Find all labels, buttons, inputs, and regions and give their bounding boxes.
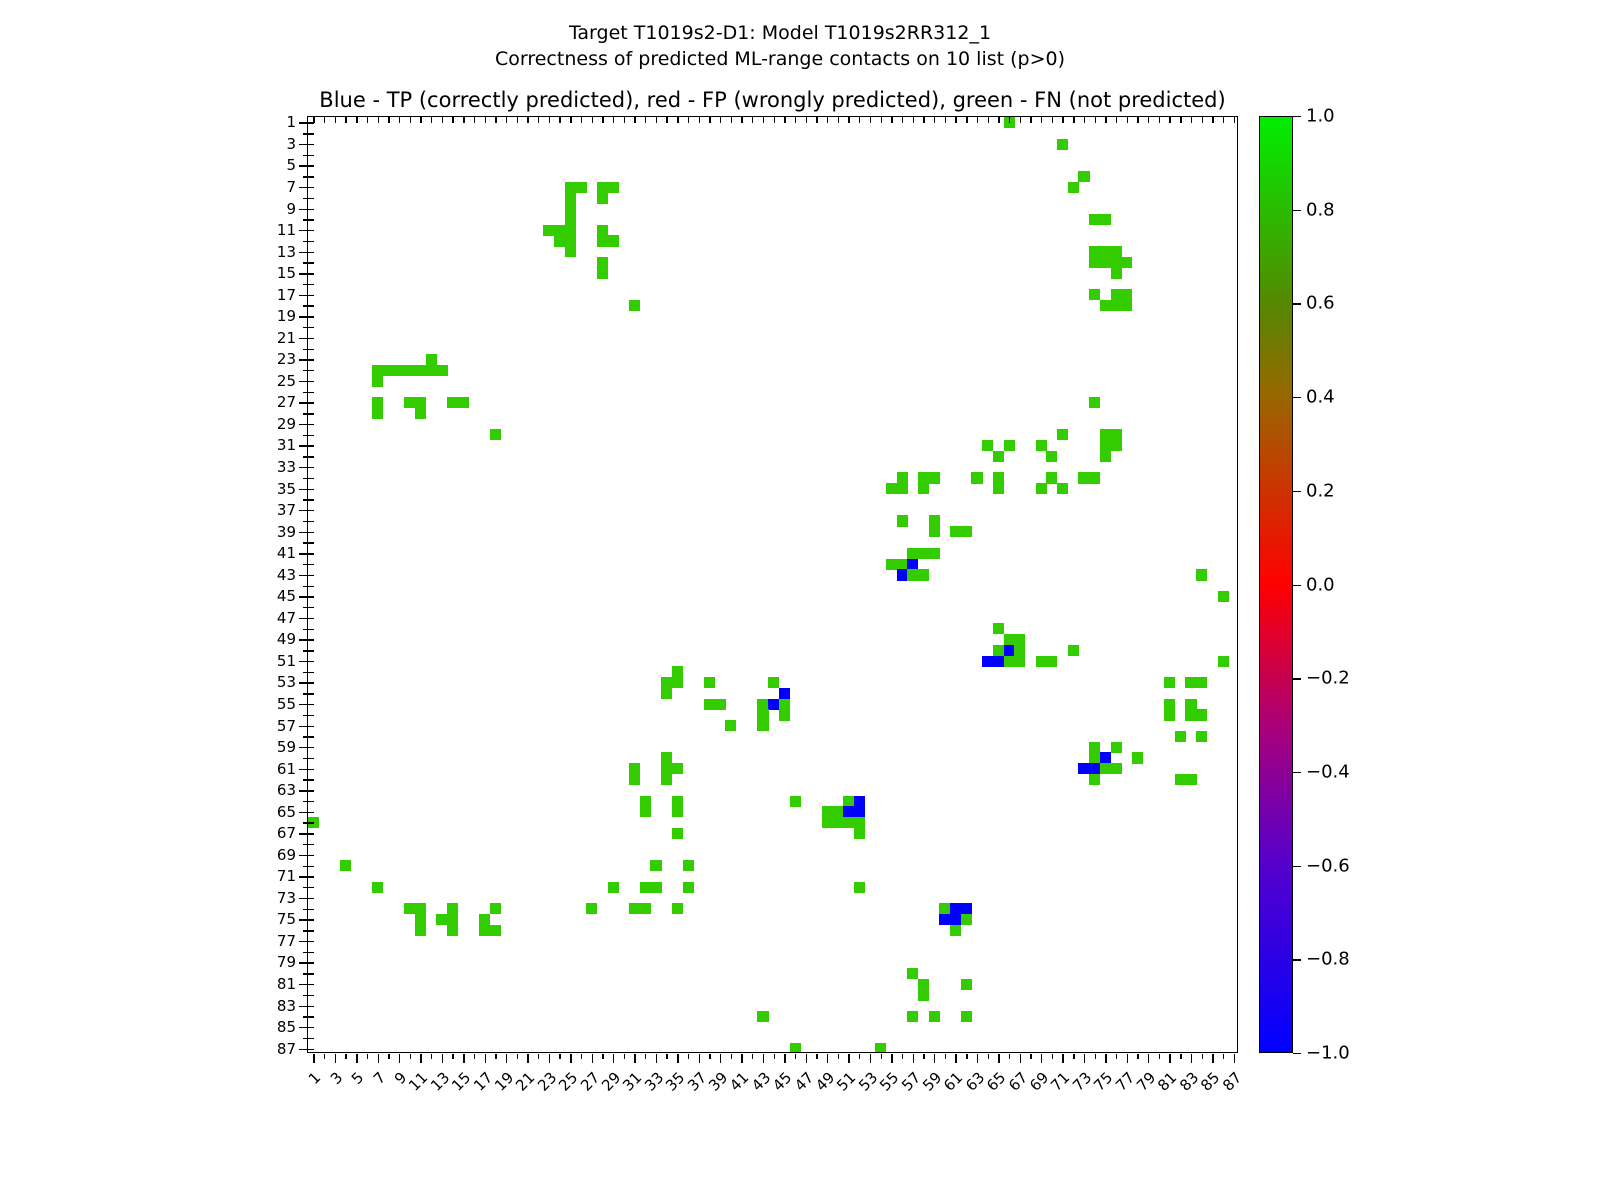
y-axis-tick-inner <box>308 876 314 877</box>
y-axis-tick-inner <box>308 715 314 716</box>
x-axis-tick <box>1095 1054 1096 1059</box>
contact-cell <box>672 796 683 807</box>
x-axis-tick-inner <box>1062 117 1063 123</box>
contact-cell <box>597 182 608 193</box>
y-axis-label: 19 <box>277 307 296 325</box>
contact-cell <box>918 548 929 559</box>
x-axis-tick <box>1223 1054 1224 1059</box>
contact-cell <box>907 569 918 580</box>
contact-cell <box>597 257 608 268</box>
x-axis-tick <box>1180 1054 1181 1059</box>
contact-cell <box>372 882 383 893</box>
figure-title-line-1: Target T1019s2-D1: Model T1019s2RR312_1 <box>0 20 1560 46</box>
contact-cell <box>929 515 940 526</box>
x-axis-tick <box>1041 1054 1042 1063</box>
contact-cell <box>1078 763 1089 774</box>
contact-cell <box>1111 246 1122 257</box>
contact-cell <box>404 903 415 914</box>
colorbar-tick-label: −1.0 <box>1306 1043 1350 1064</box>
colorbar-tick <box>1293 210 1301 211</box>
y-axis-tick <box>299 295 308 296</box>
contact-cell <box>1100 429 1111 440</box>
colorbar-tick <box>1293 116 1301 117</box>
contact-cell <box>1111 440 1122 451</box>
contact-cell <box>415 397 426 408</box>
contact-cell <box>479 914 490 925</box>
x-axis-tick <box>517 1054 518 1059</box>
y-axis-label: 23 <box>277 350 296 368</box>
x-axis-tick <box>859 1054 860 1059</box>
x-axis-tick-inner <box>452 117 453 123</box>
y-axis-label: 1 <box>286 113 296 131</box>
contact-cell <box>790 1043 801 1052</box>
x-axis-tick-inner <box>1052 117 1053 123</box>
y-axis-tick-inner <box>308 499 314 500</box>
contact-cell <box>661 677 672 688</box>
y-axis-tick-inner <box>308 1049 314 1050</box>
contact-cell <box>1218 656 1229 667</box>
x-axis-tick <box>774 1054 775 1059</box>
y-axis-tick-inner <box>308 467 314 468</box>
colorbar-tick-label: 0.2 <box>1306 480 1335 501</box>
x-axis-tick-inner <box>1148 117 1149 123</box>
contact-cell <box>1100 257 1111 268</box>
x-axis-tick <box>1062 1054 1063 1063</box>
x-axis-tick-inner <box>442 117 443 123</box>
contact-cell <box>993 656 1004 667</box>
x-axis-tick <box>602 1054 603 1059</box>
y-axis-tick <box>299 855 308 856</box>
y-axis-label: 5 <box>286 156 296 174</box>
contact-cell <box>640 903 651 914</box>
x-axis-tick <box>1084 1054 1085 1063</box>
x-axis-tick <box>442 1054 443 1063</box>
x-axis-tick-inner <box>559 117 560 123</box>
x-axis-tick-inner <box>1212 117 1213 123</box>
contact-cell <box>704 677 715 688</box>
x-axis-tick <box>923 1054 924 1059</box>
contact-cell <box>1004 656 1015 667</box>
y-axis-tick <box>299 165 308 166</box>
contact-cell <box>961 526 972 537</box>
x-axis-tick-inner <box>806 117 807 123</box>
contact-cell <box>897 515 908 526</box>
x-axis-tick-inner <box>763 117 764 123</box>
x-axis-tick-inner <box>977 117 978 123</box>
x-axis-tick <box>955 1054 956 1063</box>
contact-map-plot-area: 1357911131517192123252729313335373941434… <box>307 116 1238 1053</box>
y-axis-label: 17 <box>277 286 296 304</box>
contact-cell <box>1196 569 1207 580</box>
contact-cell <box>565 192 576 203</box>
y-axis-tick <box>299 639 308 640</box>
contact-cell <box>1089 289 1100 300</box>
x-axis-tick <box>1030 1054 1031 1059</box>
y-axis-tick-inner <box>308 230 314 231</box>
contact-cell <box>961 979 972 990</box>
y-axis-label: 51 <box>277 652 296 670</box>
y-axis-tick-inner <box>308 930 314 931</box>
contact-cell <box>1046 451 1057 462</box>
x-axis-tick-inner <box>570 117 571 123</box>
contact-cell <box>1057 429 1068 440</box>
contact-cell <box>650 860 661 871</box>
x-axis-tick-inner <box>1020 117 1021 123</box>
contact-cell <box>1218 591 1229 602</box>
x-axis-tick <box>741 1054 742 1063</box>
contact-cell <box>415 903 426 914</box>
x-axis-tick <box>699 1054 700 1063</box>
y-axis-tick-inner <box>308 941 314 942</box>
x-axis-tick <box>399 1054 400 1063</box>
colorbar-tick-label: 0.8 <box>1306 199 1335 220</box>
y-axis-tick-inner <box>308 769 314 770</box>
y-axis-tick-inner <box>308 1016 314 1017</box>
x-axis-tick-inner <box>859 117 860 123</box>
contact-cell <box>1111 257 1122 268</box>
y-axis-tick-inner <box>308 1027 314 1028</box>
contact-cell <box>929 1011 940 1022</box>
contact-cell <box>415 365 426 376</box>
y-axis-tick <box>299 230 308 231</box>
y-axis-tick-inner <box>308 413 314 414</box>
x-axis-tick <box>934 1054 935 1063</box>
colorbar-tick <box>1293 1053 1301 1054</box>
contact-cell <box>790 796 801 807</box>
y-axis-tick-inner <box>308 736 314 737</box>
x-axis-tick-inner <box>549 117 550 123</box>
contact-cell <box>1121 257 1132 268</box>
x-axis-tick-inner <box>1030 117 1031 123</box>
contact-cell <box>757 720 768 731</box>
x-axis-tick-inner <box>1180 117 1181 123</box>
contact-cell <box>897 472 908 483</box>
y-axis-tick <box>299 618 308 619</box>
x-axis-tick-inner <box>1116 117 1117 123</box>
x-axis-tick <box>795 1054 796 1059</box>
y-axis-label: 39 <box>277 523 296 541</box>
contact-cell <box>757 699 768 710</box>
contact-cell <box>597 268 608 279</box>
y-axis-tick-inner <box>308 747 314 748</box>
contact-cell <box>854 817 865 828</box>
contact-cell <box>993 645 1004 656</box>
y-axis-tick-inner <box>308 672 314 673</box>
colorbar-tick <box>1293 772 1301 773</box>
x-axis-tick <box>720 1054 721 1063</box>
y-axis-label: 59 <box>277 738 296 756</box>
contact-cell <box>565 246 576 257</box>
x-axis-tick-inner <box>624 117 625 123</box>
contact-cell <box>447 397 458 408</box>
x-axis-tick <box>666 1054 667 1059</box>
contact-cell <box>672 677 683 688</box>
x-axis-tick-inner <box>378 117 379 123</box>
x-axis-tick <box>977 1054 978 1063</box>
y-axis-tick-inner <box>308 165 314 166</box>
y-axis-tick <box>299 876 308 877</box>
y-axis-tick-inner <box>308 995 314 996</box>
contact-cell <box>1175 774 1186 785</box>
x-axis-tick-inner <box>966 117 967 123</box>
x-axis-tick-inner <box>420 117 421 123</box>
x-axis-tick-inner <box>838 117 839 123</box>
y-axis-tick-inner <box>308 521 314 522</box>
y-axis-tick-inner <box>308 359 314 360</box>
colorbar-tick-label: −0.6 <box>1306 855 1350 876</box>
y-axis-tick-inner <box>308 866 314 867</box>
contact-cell <box>1036 483 1047 494</box>
y-axis-label: 43 <box>277 566 296 584</box>
x-axis-tick <box>624 1054 625 1059</box>
contact-cell <box>993 483 1004 494</box>
contact-cell <box>661 688 672 699</box>
y-axis-label: 7 <box>286 178 296 196</box>
x-axis-tick-inner <box>388 117 389 123</box>
contact-cell <box>854 806 865 817</box>
x-axis-tick-inner <box>1041 117 1042 123</box>
contact-cell <box>629 774 640 785</box>
x-axis-tick <box>613 1054 614 1063</box>
x-axis-tick-inner <box>827 117 828 123</box>
y-axis-tick-inner <box>308 822 314 823</box>
x-axis-tick-inner <box>592 117 593 123</box>
x-axis-tick-inner <box>870 117 871 123</box>
y-axis-label: 29 <box>277 415 296 433</box>
contact-cell <box>597 235 608 246</box>
x-axis-tick <box>485 1054 486 1063</box>
x-axis-tick-inner <box>891 117 892 123</box>
x-axis-tick-inner <box>431 117 432 123</box>
x-axis-tick-inner <box>688 117 689 123</box>
y-axis-tick-inner <box>308 844 314 845</box>
colorbar-tick <box>1293 866 1301 867</box>
x-axis-tick-inner <box>463 117 464 123</box>
x-axis-tick-inner <box>634 117 635 123</box>
x-axis-tick-inner <box>345 117 346 123</box>
contact-cell <box>608 882 619 893</box>
x-axis-tick-inner <box>410 117 411 123</box>
contact-cell <box>993 451 1004 462</box>
contact-cell <box>1100 763 1111 774</box>
x-axis-tick <box>870 1054 871 1063</box>
x-axis-tick <box>881 1054 882 1059</box>
colorbar: 1.00.80.60.40.20.0−0.2−0.4−0.6−0.8−1.0 <box>1259 116 1293 1053</box>
y-axis-tick-inner <box>308 435 314 436</box>
x-axis-tick <box>410 1054 411 1059</box>
contact-cell <box>1111 289 1122 300</box>
contact-cell <box>661 774 672 785</box>
contact-cell <box>554 225 565 236</box>
x-axis-tick-inner <box>709 117 710 123</box>
contact-cell <box>436 914 447 925</box>
x-axis-tick-inner <box>485 117 486 123</box>
contact-cell <box>672 828 683 839</box>
y-axis-tick-inner <box>308 273 314 274</box>
contact-cell <box>404 397 415 408</box>
x-axis-tick-inner <box>720 117 721 123</box>
contact-cell <box>1089 472 1100 483</box>
y-axis-tick-inner <box>308 402 314 403</box>
contact-cell <box>1111 300 1122 311</box>
y-axis-tick-inner <box>308 209 314 210</box>
contact-cell <box>907 559 918 570</box>
x-axis-tick-inner <box>399 117 400 123</box>
contact-cell <box>1185 774 1196 785</box>
y-axis-label: 41 <box>277 544 296 562</box>
contact-cell <box>1164 709 1175 720</box>
y-axis-label: 53 <box>277 673 296 691</box>
y-axis-tick <box>299 209 308 210</box>
x-axis-tick <box>891 1054 892 1063</box>
contact-cell <box>1185 709 1196 720</box>
contact-cell <box>832 817 843 828</box>
contact-cell <box>565 214 576 225</box>
y-axis-tick-inner <box>308 790 314 791</box>
x-axis-tick <box>945 1054 946 1059</box>
y-axis-tick-inner <box>308 855 314 856</box>
contact-cell <box>1196 731 1207 742</box>
x-axis-tick <box>495 1054 496 1059</box>
y-axis-tick-inner <box>308 510 314 511</box>
contact-cell <box>1004 440 1015 451</box>
y-axis-tick-inner <box>308 919 314 920</box>
colorbar-tick <box>1293 678 1301 679</box>
contact-cell <box>1089 752 1100 763</box>
x-axis-tick-inner <box>913 117 914 123</box>
contact-cell <box>757 709 768 720</box>
contact-cell <box>854 796 865 807</box>
contact-map-figure: Target T1019s2-D1: Model T1019s2RR312_1 … <box>0 0 1600 1200</box>
contact-cell <box>929 548 940 559</box>
colorbar-tick-label: 1.0 <box>1306 106 1335 127</box>
contact-cell <box>1046 472 1057 483</box>
y-axis-tick-inner <box>308 898 314 899</box>
contact-cell <box>372 375 383 386</box>
contact-cell <box>372 365 383 376</box>
y-axis-tick-inner <box>308 639 314 640</box>
colorbar-tick-label: 0.4 <box>1306 387 1335 408</box>
contact-cell <box>993 472 1004 483</box>
contact-cell <box>383 365 394 376</box>
colorbar-tick-label: −0.4 <box>1306 761 1350 782</box>
contact-cell <box>1078 171 1089 182</box>
x-axis-tick-inner <box>1009 117 1010 123</box>
contact-cell <box>404 365 415 376</box>
contact-cell <box>982 656 993 667</box>
figure-title-block: Target T1019s2-D1: Model T1019s2RR312_1 … <box>0 20 1560 72</box>
y-axis-tick-inner <box>308 962 314 963</box>
y-axis-tick <box>299 833 308 834</box>
x-axis-tick <box>538 1054 539 1059</box>
y-axis-tick-inner <box>308 952 314 953</box>
y-axis-tick <box>299 984 308 985</box>
colorbar-tick <box>1293 397 1301 398</box>
contact-cell <box>1004 645 1015 656</box>
contact-cell <box>672 903 683 914</box>
x-axis-tick-inner <box>1137 117 1138 123</box>
x-axis-tick-inner <box>1202 117 1203 123</box>
y-axis-tick <box>299 661 308 662</box>
x-axis-tick <box>1052 1054 1053 1059</box>
y-axis-tick-inner <box>308 133 314 134</box>
contact-cell <box>415 408 426 419</box>
x-axis-tick <box>527 1054 528 1063</box>
y-axis-tick <box>299 1049 308 1050</box>
x-axis-tick-inner <box>988 117 989 123</box>
contact-cell <box>447 903 458 914</box>
contact-cell <box>715 699 726 710</box>
contact-cell <box>1057 483 1068 494</box>
y-axis-tick <box>299 359 308 360</box>
y-axis-label: 49 <box>277 630 296 648</box>
y-axis-label: 31 <box>277 436 296 454</box>
y-axis-tick <box>299 338 308 339</box>
contact-cell <box>597 225 608 236</box>
contact-cell <box>822 817 833 828</box>
x-axis-tick-inner <box>1095 117 1096 123</box>
x-axis-tick-inner <box>613 117 614 123</box>
y-axis-tick-inner <box>308 704 314 705</box>
contact-cell <box>1100 246 1111 257</box>
contact-cell <box>629 300 640 311</box>
y-axis-tick-inner <box>308 553 314 554</box>
y-axis-label: 13 <box>277 243 296 261</box>
contact-cell <box>436 365 447 376</box>
contact-cell <box>907 548 918 559</box>
figure-title-line-2: Correctness of predicted ML-range contac… <box>0 46 1560 72</box>
colorbar-tick-label: −0.2 <box>1306 668 1350 689</box>
y-axis-tick-inner <box>308 661 314 662</box>
x-axis-tick-inner <box>752 117 753 123</box>
y-axis-tick <box>299 812 308 813</box>
x-axis-tick-inner <box>784 117 785 123</box>
y-axis-label: 71 <box>277 867 296 885</box>
x-axis-tick <box>1191 1054 1192 1063</box>
y-axis-tick-inner <box>308 758 314 759</box>
x-axis-tick-inner <box>1191 117 1192 123</box>
x-axis-tick <box>784 1054 785 1063</box>
contact-cell <box>1068 645 1079 656</box>
y-axis-tick-inner <box>308 909 314 910</box>
y-axis-tick <box>299 941 308 942</box>
x-axis-tick-inner <box>1105 117 1106 123</box>
y-axis-tick <box>299 596 308 597</box>
y-axis-tick-inner <box>308 801 314 802</box>
y-axis-tick-inner <box>308 338 314 339</box>
x-axis-tick <box>313 1054 314 1063</box>
colorbar-gradient <box>1259 116 1293 1053</box>
contact-cell <box>779 709 790 720</box>
x-axis-tick-inner <box>774 117 775 123</box>
contact-cell <box>843 796 854 807</box>
contact-cell <box>897 569 908 580</box>
contact-cell <box>1100 440 1111 451</box>
y-axis-label: 9 <box>286 200 296 218</box>
y-axis-label: 21 <box>277 329 296 347</box>
y-axis-tick-inner <box>308 155 314 156</box>
y-axis-label: 73 <box>277 889 296 907</box>
y-axis-label: 35 <box>277 480 296 498</box>
y-axis-tick <box>299 898 308 899</box>
contact-cell <box>1057 139 1068 150</box>
contact-cell <box>1004 634 1015 645</box>
y-axis-label: 63 <box>277 781 296 799</box>
x-axis-tick-inner <box>1223 117 1224 123</box>
x-axis-tick-inner <box>945 117 946 123</box>
x-axis-tick <box>677 1054 678 1063</box>
contact-cell <box>843 806 854 817</box>
